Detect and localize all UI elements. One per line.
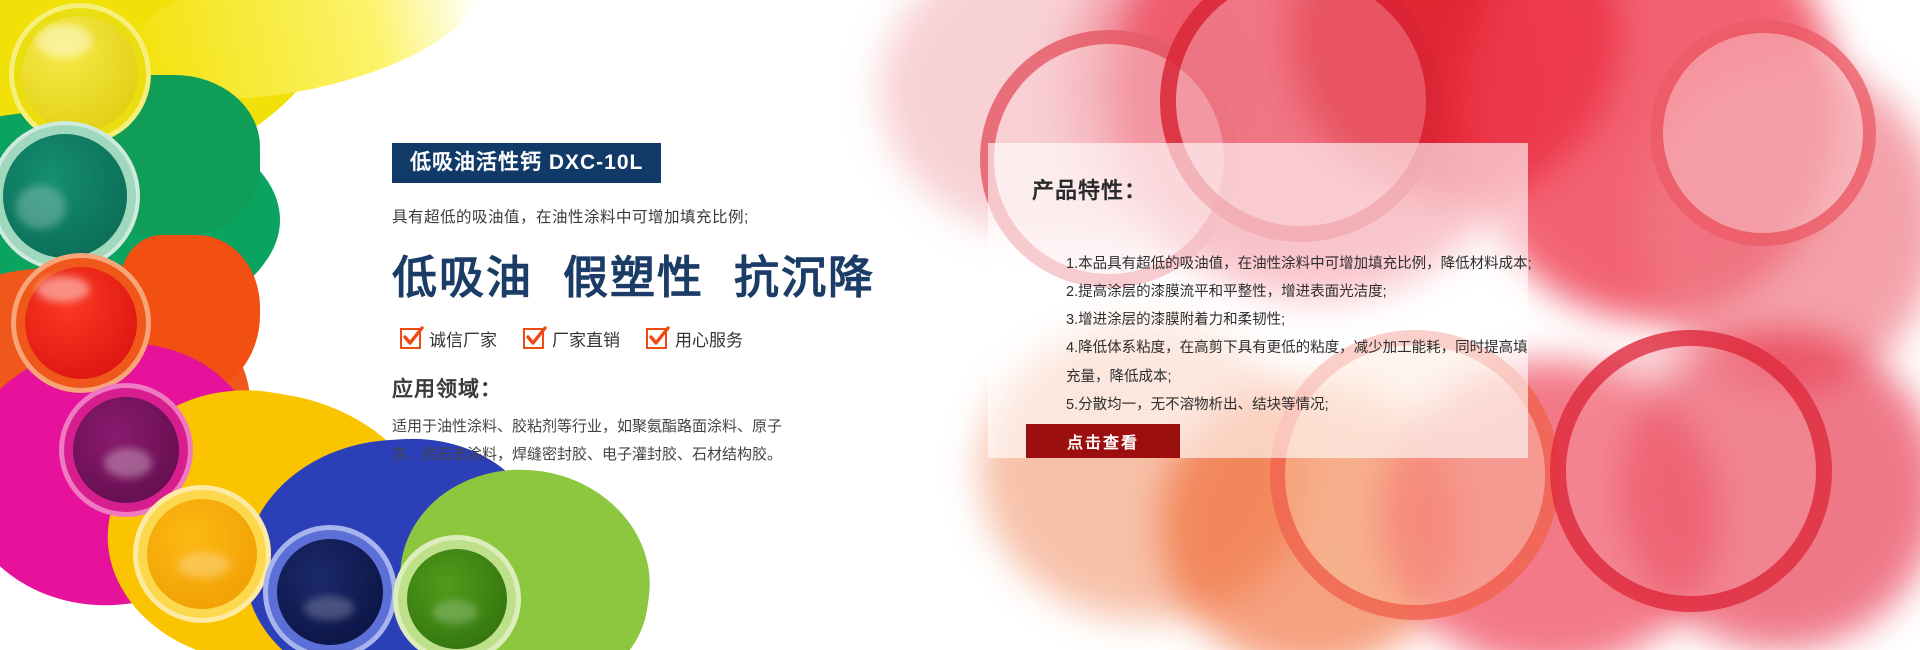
magenta-paint-stroke (0, 330, 273, 620)
feature-list-item: 5.分散均一，无不溶物析出、结块等情况; (1066, 391, 1536, 419)
headline-word-1: 低吸油 (392, 253, 533, 303)
feature-list-item: 2.提高涂层的漆膜流平和平整性，增进表面光洁度; (1066, 278, 1536, 306)
feature-item-3: 用心服务 (646, 326, 743, 351)
feature-label-3: 用心服务 (675, 326, 743, 351)
lime-paint-stroke (386, 454, 664, 650)
headline-word-3: 抗沉降 (734, 253, 875, 303)
green-paint-stroke (0, 96, 288, 355)
red-paint-ring-4 (1550, 330, 1832, 612)
feature-label-2: 厂家直销 (552, 326, 620, 351)
orange-paint-tail (120, 235, 260, 395)
product-subtitle: 具有超低的吸油值，在油性涂料中可增加填充比例; (392, 205, 862, 227)
green-paint-tail (70, 75, 260, 235)
feature-label-1: 诚信厂家 (429, 326, 497, 351)
paint-can-amber (138, 490, 266, 618)
paint-can-green (398, 540, 516, 650)
paint-can-purple (64, 388, 188, 512)
hero-banner: 低吸油活性钙 DXC-10L 具有超低的吸油值，在油性涂料中可增加填充比例; 低… (0, 0, 1920, 650)
feature-item-1: 诚信厂家 (400, 326, 497, 351)
yellow-paint-stroke (0, 0, 359, 211)
checkbox-checked-icon (523, 328, 544, 349)
feature-list-item: 4.降低体系粘度，在高剪下具有更低的粘度，减少加工能耗，同时提高填充量，降低成本… (1066, 334, 1536, 391)
feature-list-item: 3.增进涂层的漆膜附着力和柔韧性; (1066, 306, 1536, 334)
paint-can-red (16, 258, 146, 388)
checkbox-checked-icon (400, 328, 421, 349)
view-details-button[interactable]: 点击查看 (1026, 424, 1180, 458)
application-section-body: 适用于油性涂料、胶粘剂等行业，如聚氨酯路面涂料、原子灰、抗石击涂料，焊缝密封胶、… (392, 413, 797, 469)
paint-can-yellow (14, 8, 146, 140)
checkbox-checked-icon (646, 328, 667, 349)
yellow-paint-tail (110, 0, 489, 126)
product-features-panel: 产品特性： 1.本品具有超低的吸油值，在油性涂料中可增加填充比例，降低材料成本;… (988, 143, 1528, 458)
orange-paint-stroke (0, 252, 263, 548)
application-section-title: 应用领域： (392, 373, 862, 403)
panel-title: 产品特性： (1032, 173, 1147, 205)
red-wash-10 (1620, 330, 1920, 650)
feature-list-item: 1.本品具有超低的吸油值，在油性涂料中可增加填充比例，降低材料成本; (1066, 250, 1536, 278)
paint-can-navy (268, 530, 392, 650)
feature-item-2: 厂家直销 (523, 326, 620, 351)
headline-keywords: 低吸油假塑性抗沉降 (392, 241, 862, 306)
product-features-list: 1.本品具有超低的吸油值，在油性涂料中可增加填充比例，降低材料成本; 2.提高涂… (1026, 250, 1536, 420)
headline-word-2: 假塑性 (563, 253, 704, 303)
paint-can-teal (0, 125, 136, 267)
red-wash-6 (1640, 60, 1920, 390)
feature-badge-list: 诚信厂家 厂家直销 用心服务 (400, 326, 862, 351)
product-title-banner: 低吸油活性钙 DXC-10L (392, 143, 661, 183)
left-content-column: 低吸油活性钙 DXC-10L 具有超低的吸油值，在油性涂料中可增加填充比例; 低… (392, 143, 862, 469)
red-paint-ring-5 (1650, 20, 1876, 246)
